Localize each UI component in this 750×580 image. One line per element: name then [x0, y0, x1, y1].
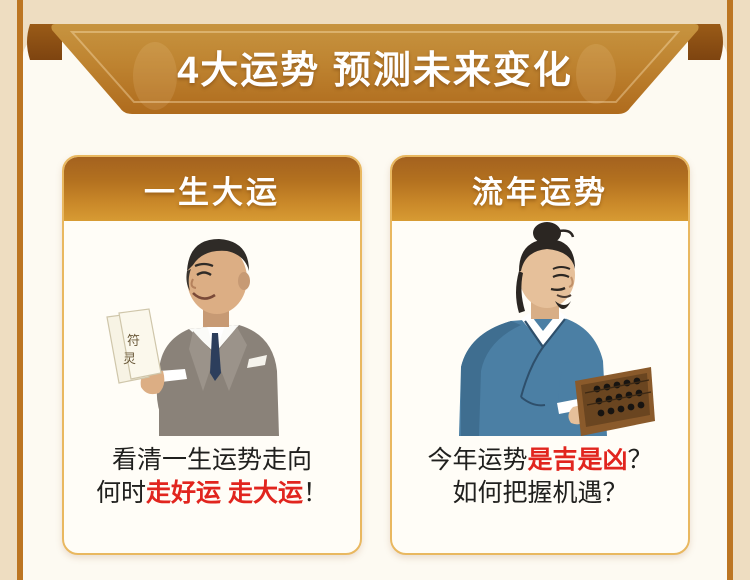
card-caption-yearly: 今年运势是吉是凶？ 如何把握机遇？ — [392, 436, 688, 509]
caption-suffix: ？ — [628, 446, 653, 474]
svg-text:符: 符 — [127, 333, 140, 349]
caption-line-2: 如何把握机遇？ — [402, 477, 678, 510]
fortune-cards-container: 一生大运 — [0, 155, 750, 560]
caption-prefix: 今年运势 — [427, 446, 527, 474]
card-title-yearly: 流年运势 — [472, 167, 608, 212]
card-illustration-scholar — [392, 221, 688, 436]
fortune-card-lifetime[interactable]: 一生大运 — [62, 155, 362, 555]
caption-highlight: 是吉是凶 — [527, 446, 627, 474]
caption-prefix: 何时 — [96, 479, 146, 507]
caption-highlight: 走好运 走大运 — [146, 479, 303, 507]
caption-line-2: 何时走好运 走大运！ — [74, 477, 350, 510]
caption-line-1: 今年运势是吉是凶？ — [402, 444, 678, 477]
caption-suffix: ！ — [303, 479, 328, 507]
card-title-lifetime: 一生大运 — [144, 167, 280, 212]
caption-line-1: 看清一生运势走向 — [74, 444, 350, 477]
card-header-yearly: 流年运势 — [392, 157, 688, 221]
card-header-lifetime: 一生大运 — [64, 157, 360, 221]
page-title: 4大运势 预测未来变化 — [0, 16, 750, 116]
card-illustration-businessman: 符 灵 — [64, 221, 360, 436]
fortune-card-yearly[interactable]: 流年运势 — [390, 155, 690, 555]
card-caption-lifetime: 看清一生运势走向 何时走好运 走大运！ — [64, 436, 360, 509]
svg-text:灵: 灵 — [123, 352, 136, 367]
